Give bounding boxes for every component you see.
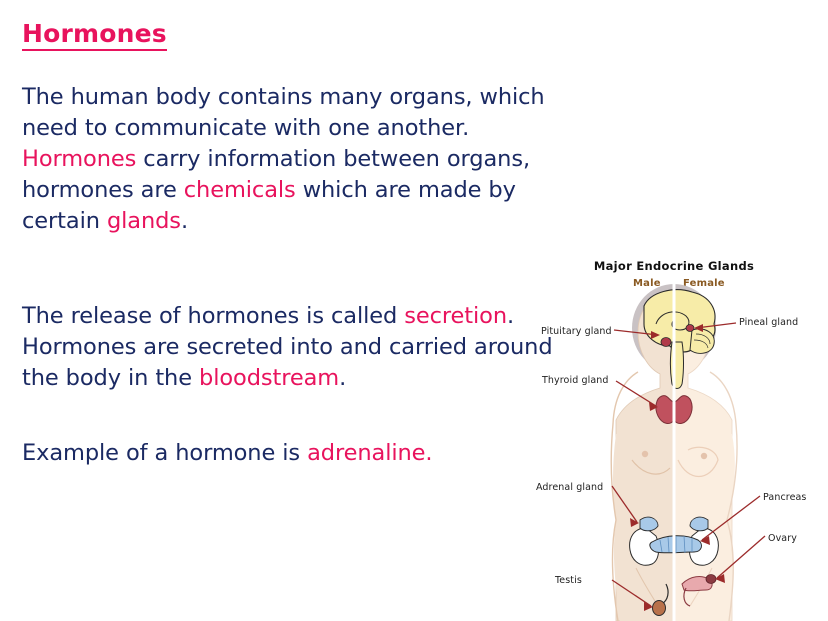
nipple-female: [701, 453, 707, 459]
highlighted-term: bloodstream: [199, 365, 339, 391]
body-text-run: The human body contains many organs, whi…: [22, 84, 545, 141]
diagram-title: Major Endocrine Glands: [520, 259, 828, 273]
adrenal-gland-left: [640, 517, 658, 531]
pineal-gland-shape: [686, 325, 694, 332]
body-text-run: .: [181, 208, 188, 234]
adrenal-gland-right: [690, 517, 708, 531]
testis-shape: [653, 601, 666, 616]
paragraph-secretion: The release of hormones is called secret…: [22, 301, 562, 394]
paragraph-intro: The human body contains many organs, whi…: [22, 82, 562, 237]
brain-stem: [671, 342, 684, 389]
highlighted-term: chemicals: [184, 177, 296, 203]
nipple-male: [642, 451, 648, 457]
ovary-shape: [706, 575, 716, 584]
callout-ovary: Ovary: [768, 533, 797, 544]
body-text-run: Example of a hormone is: [22, 440, 307, 466]
pituitary-gland-shape: [661, 338, 671, 347]
page-title: Hormones: [22, 20, 167, 51]
callout-pituitary-gland: Pituitary gland: [541, 326, 612, 337]
callout-pineal-gland: Pineal gland: [739, 317, 798, 328]
endocrine-glands-diagram: Major Endocrine Glands Male Female: [520, 250, 828, 621]
highlighted-term: Hormones: [22, 146, 136, 172]
highlighted-term: glands: [107, 208, 181, 234]
callout-pancreas: Pancreas: [763, 492, 806, 503]
highlighted-term: secretion: [404, 303, 507, 329]
callout-testis: Testis: [555, 575, 582, 586]
brain-group: [644, 290, 715, 389]
callout-thyroid-gland: Thyroid gland: [542, 375, 609, 386]
body-text-run: .: [339, 365, 346, 391]
body-text-run: The release of hormones is called: [22, 303, 404, 329]
highlighted-term: adrenaline.: [307, 440, 432, 466]
paragraph-example: Example of a hormone is adrenaline.: [22, 438, 562, 469]
callout-adrenal-gland: Adrenal gland: [536, 482, 603, 493]
